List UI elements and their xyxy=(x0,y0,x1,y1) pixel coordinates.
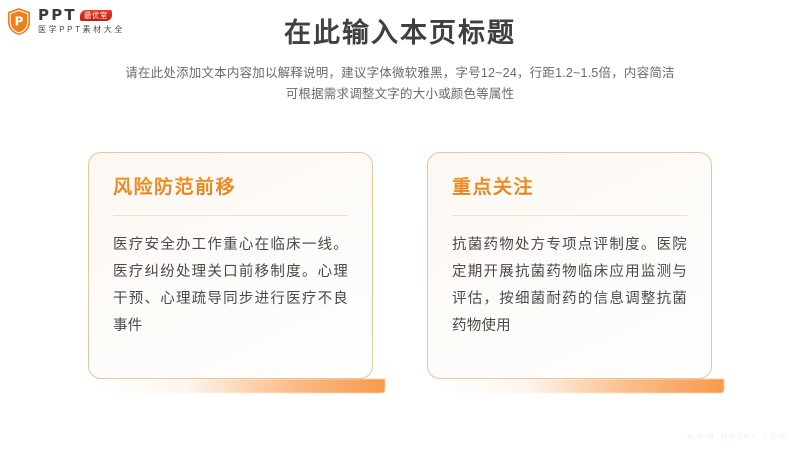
subtitle-line-1: 请在此处添加文本内容加以解释说明，建议字体微软雅黑，字号12~24，行距1.2~… xyxy=(0,63,800,84)
card-risk-prevention[interactable]: 风险防范前移 医疗安全办工作重心在临床一线。医疗纠纷处理关口前移制度。心理干预、… xyxy=(88,152,373,397)
footer-watermark: www.ppter.com xyxy=(687,432,790,442)
content-cards: 风险防范前移 医疗安全办工作重心在临床一线。医疗纠纷处理关口前移制度。心理干预、… xyxy=(88,152,712,397)
card-heading: 重点关注 xyxy=(452,175,687,201)
card-divider xyxy=(452,215,687,216)
card-body-text: 医疗安全办工作重心在临床一线。医疗纠纷处理关口前移制度。心理干预、心理疏导同步进… xyxy=(113,232,348,340)
card-panel[interactable]: 风险防范前移 医疗安全办工作重心在临床一线。医疗纠纷处理关口前移制度。心理干预、… xyxy=(88,152,373,379)
card-bottom-accent-bar xyxy=(102,379,385,393)
page-subtitle: 请在此处添加文本内容加以解释说明，建议字体微软雅黑，字号12~24，行距1.2~… xyxy=(0,63,800,105)
subtitle-line-2: 可根据需求调整文字的大小或颜色等属性 xyxy=(0,84,800,105)
card-bottom-accent-bar xyxy=(441,379,724,393)
page-title: 在此输入本页标题 xyxy=(0,16,800,50)
card-body-text: 抗菌药物处方专项点评制度。医院定期开展抗菌药物临床应用监测与评估，按细菌耐药的信… xyxy=(452,232,687,340)
card-heading: 风险防范前移 xyxy=(113,175,348,201)
card-divider xyxy=(113,215,348,216)
card-panel[interactable]: 重点关注 抗菌药物处方专项点评制度。医院定期开展抗菌药物临床应用监测与评估，按细… xyxy=(427,152,712,379)
card-key-focus[interactable]: 重点关注 抗菌药物处方专项点评制度。医院定期开展抗菌药物临床应用监测与评估，按细… xyxy=(427,152,712,397)
